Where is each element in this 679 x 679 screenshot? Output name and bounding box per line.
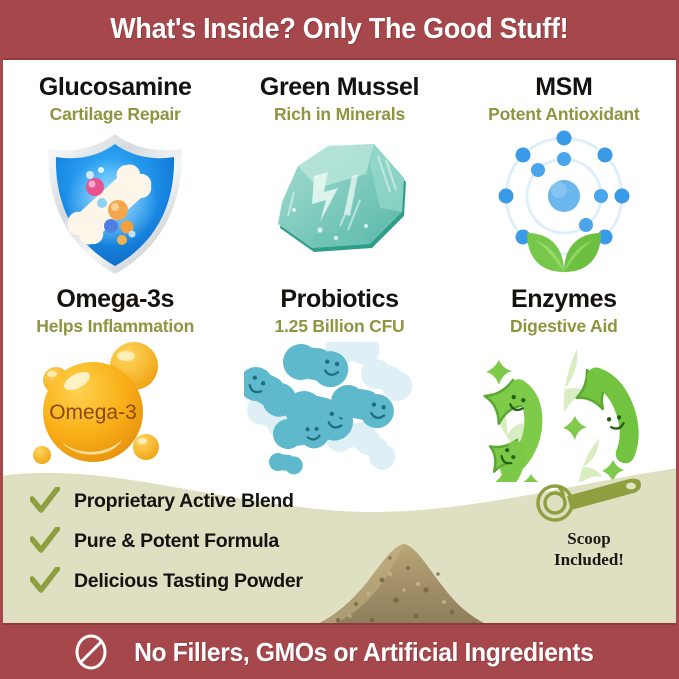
ingredient-card-green-mussel: Green Mussel Rich in Minerals [227,62,451,274]
ingredient-benefit: Digestive Aid [510,317,618,335]
check-mark-icon [30,567,60,595]
ingredient-benefit: Helps Inflammation [36,317,194,335]
scoop-label-line1: Scoop [529,529,649,548]
no-prohibited-icon [73,634,109,670]
scoop-label-line2: Included! [529,550,649,569]
ingredient-name: Glucosamine [39,74,192,100]
powder-pile-image [286,528,516,638]
ingredient-benefit: Potent Antioxidant [488,105,639,123]
ingredient-name: Probiotics [280,286,398,312]
check-mark-icon [30,527,60,555]
ingredient-grid: Glucosamine Cartilage Repair [3,62,676,474]
atom-leaf-icon [489,130,639,283]
list-item-label: Delicious Tasting Powder [74,570,303,593]
list-item: Proprietary Active Blend [30,487,303,515]
product-infographic: What's Inside? Only The Good Stuff! Gluc… [0,0,679,679]
list-item-label: Pure & Potent Formula [74,530,279,553]
ingredient-benefit: Rich in Minerals [274,105,405,123]
ingredient-name: Enzymes [511,286,617,312]
ingredient-card-enzymes: Enzymes Digestive Aid [452,274,676,474]
ingredient-card-msm: MSM Potent Antioxidant [452,62,676,274]
bottom-banner: No Fillers, GMOs or Artificial Ingredien… [0,623,679,679]
scoop-callout: Scoop Included! [529,476,649,569]
green-mussel-shell-icon [254,130,424,275]
shield-bone-molecule-icon [40,130,190,283]
ingredient-benefit: 1.25 Billion CFU [274,317,404,335]
top-banner-title: What's Inside? Only The Good Stuff! [110,13,568,46]
top-banner: What's Inside? Only The Good Stuff! [0,0,679,60]
check-mark-icon [30,487,60,515]
ingredient-card-probiotics: Probiotics 1.25 Billion CFU [227,274,451,474]
benefits-checklist: Proprietary Active Blend Pure & Potent F… [30,487,303,595]
ingredient-name: MSM [535,74,592,100]
ingredient-name: Omega-3s [56,286,174,312]
measuring-scoop-icon [533,476,645,522]
list-item: Pure & Potent Formula [30,527,303,555]
ingredient-card-omega-3s: Omega-3s Helps Inflammation [3,274,227,474]
ingredient-name: Green Mussel [260,74,419,100]
list-item-label: Proprietary Active Blend [74,490,294,513]
list-item: Delicious Tasting Powder [30,567,303,595]
bottom-banner-title: No Fillers, GMOs or Artificial Ingredien… [134,637,593,668]
ingredient-card-glucosamine: Glucosamine Cartilage Repair [3,62,227,274]
ingredient-benefit: Cartilage Repair [50,105,181,123]
omega-3-label: Omega-3 [49,401,137,424]
